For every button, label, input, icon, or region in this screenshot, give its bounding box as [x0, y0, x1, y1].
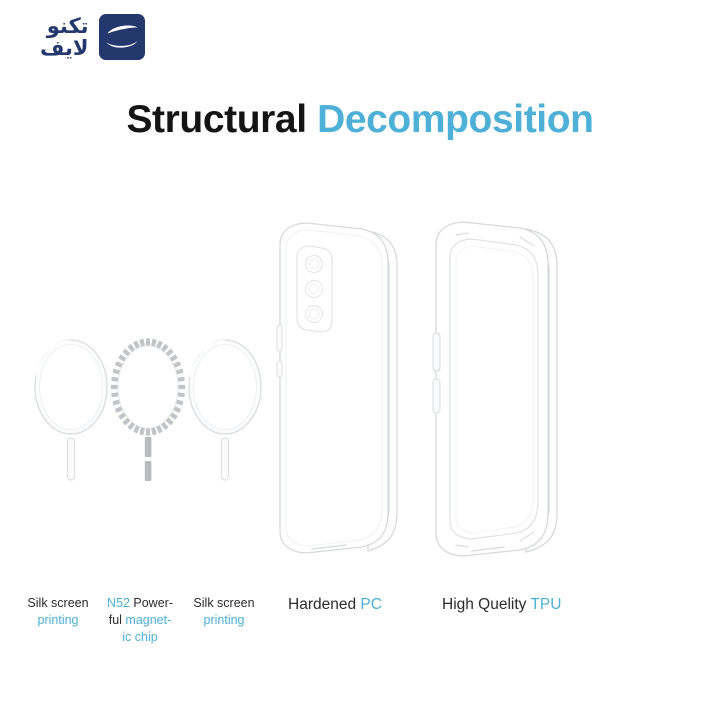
brand-logo: تكنو لايف	[40, 8, 200, 66]
brand-wordmark-line-1: تكنو	[47, 16, 89, 37]
caption-text: Hardened PC	[288, 595, 438, 616]
exploded-parts-diagram	[0, 120, 720, 590]
part-tpu-bumper-frame	[410, 215, 575, 565]
caption-silk-screen-ring-1: Silk screenprinting	[18, 595, 98, 629]
caption-hardened-pc: Hardened PC	[288, 595, 438, 616]
caption-text: Silk screenprinting	[184, 595, 264, 629]
part-caption-row: Silk screenprinting N52 Power-ful magnet…	[0, 595, 720, 685]
caption-n52-magnet-ring: N52 Power-ful magnet-ic chip	[102, 595, 178, 646]
caption-text: High Quelity TPU	[442, 595, 612, 616]
techno-life-swoosh-logomark-icon	[99, 14, 145, 60]
caption-text: N52 Power-ful magnet-ic chip	[102, 595, 178, 646]
brand-wordmark-line-2: لايف	[40, 38, 89, 59]
part-hardened-pc-shell	[250, 215, 415, 565]
brand-wordmark: تكنو لايف	[40, 16, 89, 59]
caption-silk-screen-ring-2: Silk screenprinting	[184, 595, 264, 629]
caption-high-quality-tpu: High Quelity TPU	[442, 595, 612, 616]
caption-text: Silk screenprinting	[18, 595, 98, 629]
